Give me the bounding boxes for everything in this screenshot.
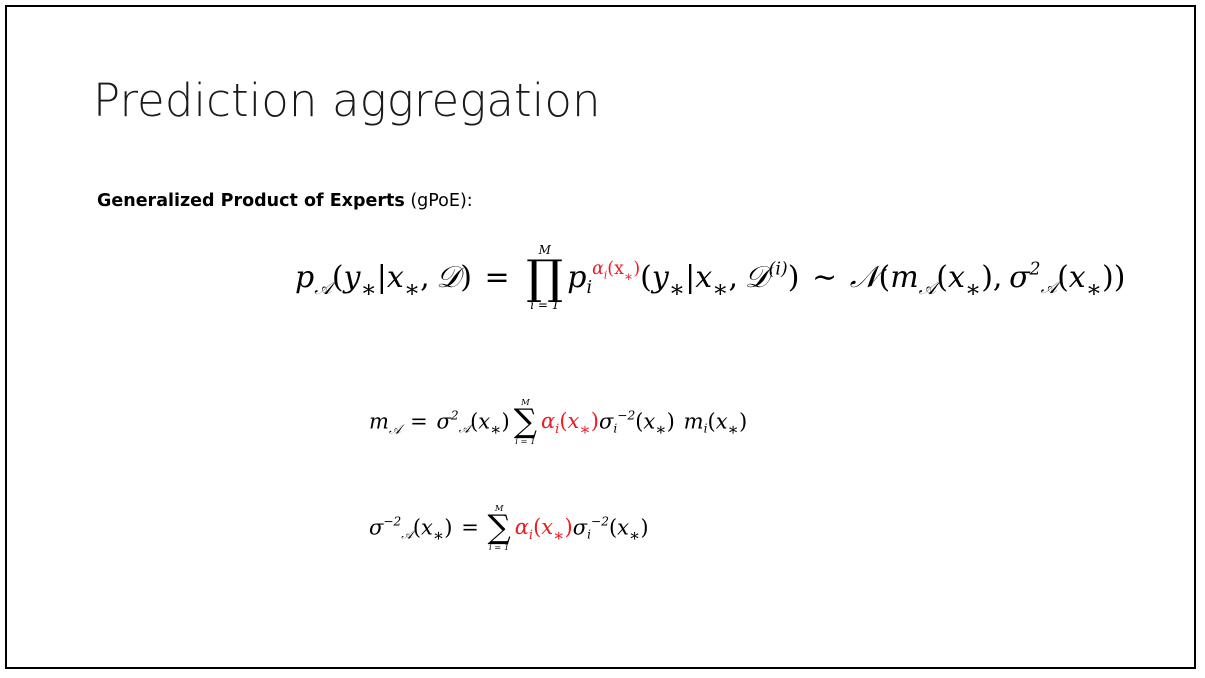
eq-prec-sigma-i-sub: i [587, 527, 591, 541]
eq-mean-sigma-sub: 𝒜 [459, 421, 471, 435]
equation-mean: m𝒜=σ2𝒜(x∗)M∑i = 1αi(x∗)σi−2(x∗)mi(x∗) [369, 399, 747, 447]
eq-main-rhs-sigma-x: x [1069, 260, 1086, 295]
product-lower-limit: i = 1 [526, 299, 563, 312]
eq-main-rhs-sigma-close: ) [1102, 260, 1114, 295]
eq-prec-sigma-star: ∗ [433, 525, 444, 545]
eq-main-mid-bar: | [685, 260, 695, 295]
eq-prec-sigma-i-open: ( [609, 515, 617, 539]
eq-main-lhs-sub: 𝒜 [314, 278, 332, 299]
eq-main-equals: = [485, 260, 510, 295]
slide-frame: Prediction aggregation Generalized Produ… [5, 5, 1196, 669]
eq-mean-sigma-i-sup: −2 [617, 409, 635, 423]
eq-main-mid-y-star: ∗ [669, 275, 685, 303]
eq-main-x-star: ∗ [404, 275, 420, 303]
eq-main-rhs-sigma-open: ( [1057, 260, 1069, 295]
sum-symbol-precision: ∑ [488, 513, 511, 543]
eq-mean-equals: = [410, 409, 428, 433]
eq-main-rhs-open: ( [878, 260, 890, 295]
eq-prec-alpha-group: αi(x∗) [515, 515, 573, 539]
eq-main-p-sub-i: i [587, 278, 593, 298]
eq-prec-sigma-sup: −2 [383, 515, 401, 529]
subtitle-regular: (gPoE): [405, 191, 473, 211]
sum-lower-limit-mean: i = 1 [514, 437, 537, 446]
eq-mean-m: m [369, 409, 389, 433]
eq-main-rhs-m-open: ( [936, 260, 948, 295]
eq-mean-sigma-i: σ [599, 409, 613, 433]
eq-main-rhs-m-sub: 𝒜 [919, 278, 937, 299]
exponent-open: (x [607, 259, 624, 279]
equation-precision: σ−2𝒜(x∗)=M∑i = 1αi(x∗)σi−2(x∗) [369, 505, 649, 553]
product-symbol: ∏ [526, 256, 563, 299]
eq-mean-sigma-i-close: ) [667, 409, 675, 433]
eq-prec-equals: = [461, 515, 479, 539]
subtitle-line: Generalized Product of Experts (gPoE): [97, 191, 473, 211]
eq-mean-sigma-x: x [478, 409, 490, 433]
eq-prec-sigma-i: σ [573, 515, 587, 539]
eq-mean-alpha-group: αi(x∗) [541, 409, 599, 433]
eq-prec-alpha: α [515, 515, 529, 539]
eq-main-rhs-m-star: ∗ [965, 275, 981, 303]
equation-main: p𝒜(y∗|x∗,𝒟)=M∏i = 1piαi(x∗)(y∗|x∗,𝒟(i))∼… [295, 245, 1125, 313]
eq-main-mid-comma: , [728, 260, 738, 295]
eq-mean-sigma-i-sub: i [613, 421, 617, 435]
eq-main-lhs-p: p [295, 260, 314, 295]
eq-main-rhs-comma: , [993, 260, 1003, 295]
exponent-star: ∗ [624, 269, 633, 285]
eq-main-y: y [344, 260, 361, 295]
eq-main-rhs-m: m [890, 260, 918, 295]
eq-mean-sigma-i-star: ∗ [655, 419, 666, 439]
eq-prec-alpha-close: ) [565, 515, 573, 539]
eq-mean-mi-open: ( [708, 409, 716, 433]
eq-main-D: 𝒟 [436, 260, 460, 295]
eq-main-mid-D: 𝒟 [745, 260, 769, 295]
exponent-alpha-glyph: α [592, 259, 604, 279]
eq-mean-alpha-open: ( [559, 409, 567, 433]
eq-mean-mi-star: ∗ [728, 419, 739, 439]
eq-main-mid-x-star: ∗ [712, 275, 728, 303]
eq-main-mid-open: ( [640, 260, 652, 295]
eq-mean-sigma-i-x: x [643, 409, 655, 433]
eq-prec-sigma-x: x [421, 515, 433, 539]
eq-main-bar: | [377, 260, 387, 295]
sum-symbol-mean: ∑ [514, 407, 537, 437]
eq-prec-sigma-i-close: ) [640, 515, 648, 539]
eq-mean-sigma-sup: 2 [451, 409, 459, 423]
sum-operator-mean: M∑i = 1 [514, 398, 537, 446]
eq-main-rhs-m-close: ) [981, 260, 993, 295]
sum-lower-limit-precision: i = 1 [488, 543, 511, 552]
eq-mean-alpha-star: ∗ [579, 419, 590, 439]
eq-prec-alpha-star: ∗ [553, 525, 564, 545]
eq-mean-sigma: σ [436, 409, 450, 433]
eq-main-close-paren: ) [460, 260, 472, 295]
eq-main-rhs-m-x: x [948, 260, 965, 295]
eq-main-rhs-sigma: σ [1009, 260, 1029, 295]
eq-main-rhs-sigma-sub: 𝒜 [1041, 278, 1057, 298]
eq-prec-sigma-i-sup: −2 [591, 515, 609, 529]
normal-distribution-symbol: 𝒩 [850, 260, 879, 295]
eq-main-mid-D-sup: (i) [769, 259, 788, 279]
eq-main-mid-x: x [695, 260, 712, 295]
eq-main-rhs-sigma-sup: 2 [1030, 259, 1041, 279]
eq-mean-mi-close: ) [739, 409, 747, 433]
eq-main-mid-y: y [652, 260, 669, 295]
eq-main-open-paren: ( [332, 260, 344, 295]
eq-mean-alpha-x: x [568, 409, 580, 433]
eq-prec-sigma: σ [369, 515, 383, 539]
eq-main-exponent-alpha: αi(x∗) [592, 259, 640, 279]
sum-operator-precision: M∑i = 1 [488, 504, 511, 552]
eq-mean-sigma-star: ∗ [490, 419, 501, 439]
eq-prec-sigma-i-star: ∗ [629, 525, 640, 545]
eq-main-rhs-sigma-star: ∗ [1086, 275, 1102, 303]
eq-prec-sigma-close: ) [444, 515, 452, 539]
eq-main-mid-close: ) [788, 260, 800, 295]
eq-main-rhs-close: ) [1114, 260, 1126, 295]
eq-mean-sigma-close: ) [502, 409, 510, 433]
page-title: Prediction aggregation [93, 75, 601, 127]
eq-prec-sigma-open: ( [413, 515, 421, 539]
eq-mean-mi-x: x [716, 409, 728, 433]
eq-mean-alpha-close: ) [591, 409, 599, 433]
subtitle-bold: Generalized Product of Experts [97, 191, 405, 211]
eq-main-x: x [387, 260, 404, 295]
eq-mean-mi: m [684, 409, 704, 433]
eq-prec-sigma-i-x: x [617, 515, 629, 539]
eq-main-p-base: p [567, 260, 586, 295]
eq-mean-m-sub: 𝒜 [389, 422, 401, 437]
eq-prec-alpha-x: x [541, 515, 553, 539]
eq-main-comma: , [420, 260, 430, 295]
eq-main-tilde: ∼ [812, 260, 837, 295]
eq-main-y-star: ∗ [360, 275, 376, 303]
eq-mean-alpha: α [541, 409, 555, 433]
eq-prec-sigma-sub: 𝒜 [401, 527, 413, 541]
product-operator: M∏i = 1 [526, 244, 563, 312]
